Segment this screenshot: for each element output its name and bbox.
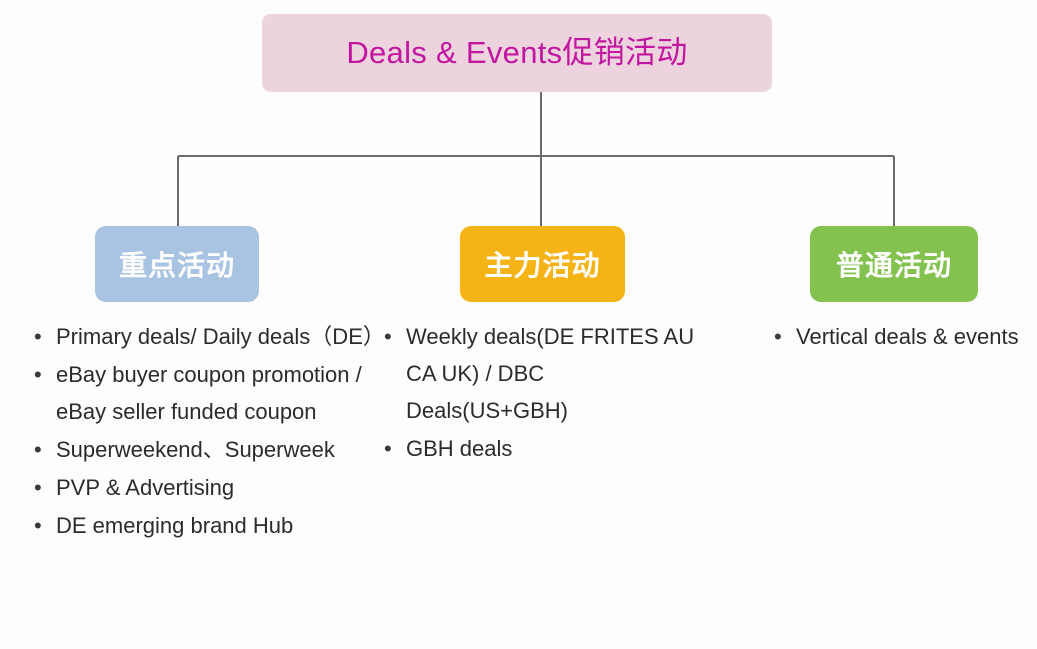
list-item-text: PVP & Advertising [56,469,374,506]
diagram-canvas: Deals & Events促销活动 重点活动 主力活动 普通活动 • Prim… [0,0,1037,649]
category-node-key-activities: 重点活动 [95,226,259,302]
list-item-text: eBay buyer coupon promotion / eBay selle… [56,356,374,430]
bullet-dot-icon: • [22,507,56,544]
category-node-label: 主力活动 [484,244,600,284]
bullet-dot-icon: • [762,318,796,355]
bullet-dot-icon: • [22,356,56,393]
category-node-label: 重点活动 [119,244,235,284]
category-node-main-activities: 主力活动 [460,226,625,302]
list-item: • eBay buyer coupon promotion / eBay sel… [22,356,374,430]
list-item: • GBH deals [372,430,702,467]
bullet-dot-icon: • [372,430,406,467]
category-node-label: 普通活动 [836,244,952,284]
list-item-text: Weekly deals(DE FRITES AU CA UK) / DBC D… [406,318,702,429]
list-item: • PVP & Advertising [22,469,374,506]
category-node-regular-activities: 普通活动 [810,226,978,302]
bullet-dot-icon: • [22,318,56,355]
list-item-text: Superweekend、Superweek [56,431,374,468]
bullet-dot-icon: • [22,469,56,506]
bullet-list-key-activities: • Primary deals/ Daily deals（DE） • eBay … [22,318,374,545]
root-node-label: Deals & Events促销活动 [346,36,687,70]
list-item: • DE emerging brand Hub [22,507,374,544]
list-item-text: GBH deals [406,430,702,467]
list-item-text: Vertical deals & events [796,318,1022,355]
root-node: Deals & Events促销活动 [262,14,772,92]
list-item-text: Primary deals/ Daily deals（DE） [56,318,374,355]
list-item-text: DE emerging brand Hub [56,507,374,544]
list-item: • Vertical deals & events [762,318,1022,355]
list-item: • Superweekend、Superweek [22,431,374,468]
bullet-list-main-activities: • Weekly deals(DE FRITES AU CA UK) / DBC… [372,318,702,468]
bullet-dot-icon: • [372,318,406,355]
list-item: • Weekly deals(DE FRITES AU CA UK) / DBC… [372,318,702,429]
bullet-dot-icon: • [22,431,56,468]
bullet-list-regular-activities: • Vertical deals & events [762,318,1022,356]
list-item: • Primary deals/ Daily deals（DE） [22,318,374,355]
